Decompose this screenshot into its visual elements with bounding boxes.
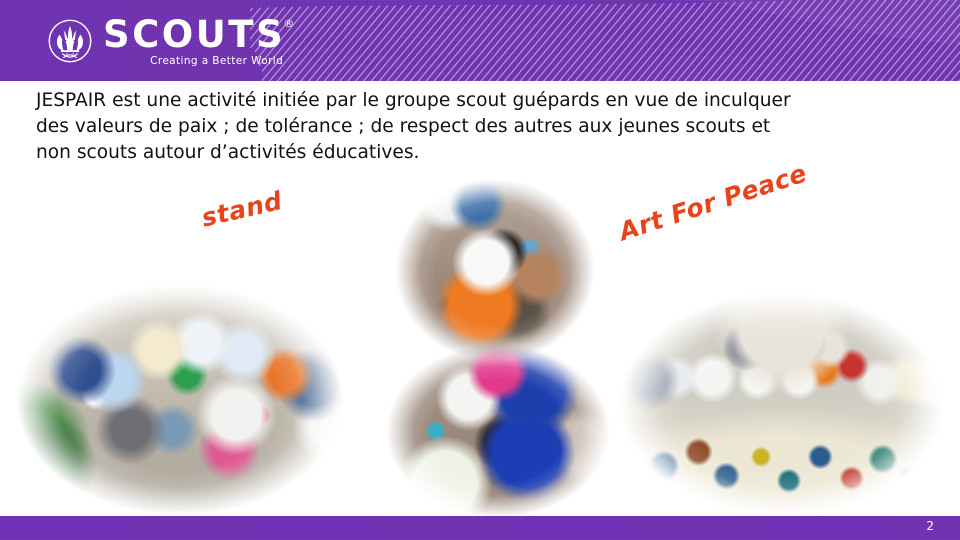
purple-texture <box>0 516 960 540</box>
paragraph-line-2: des valeurs de paix ; de tolérance ; de … <box>36 114 924 140</box>
photo-group-with-drawings <box>4 276 356 524</box>
label-stand: stand <box>199 186 285 233</box>
slide-canvas: SCOUTS® Creating a Better World JESPAIR … <box>0 0 960 540</box>
page-number: 2 <box>926 519 934 533</box>
photo-boy-drawing <box>378 338 618 524</box>
header-band: SCOUTS® Creating a Better World <box>0 0 960 81</box>
scouts-logo: SCOUTS® Creating a Better World <box>47 17 285 65</box>
photo-image <box>4 276 356 524</box>
paragraph-line-1: JESPAIR est une activité initiée par le … <box>36 88 924 114</box>
photo-image <box>608 284 956 524</box>
scouts-wordmark-label: SCOUTS <box>103 13 285 56</box>
scout-fleur-de-lis-icon <box>47 18 93 64</box>
description-paragraph: JESPAIR est une activité initiée par le … <box>36 88 924 166</box>
photo-image <box>378 338 618 524</box>
scouts-tagline: Creating a Better World <box>103 55 285 67</box>
scouts-wordmark-text: SCOUTS® <box>103 16 285 53</box>
label-art-for-peace: Art For Peace <box>616 158 811 246</box>
scouts-wordmark: SCOUTS® Creating a Better World <box>103 16 285 67</box>
photo-handprint-banner <box>608 284 956 524</box>
footer-band <box>0 516 960 540</box>
trademark-icon: ® <box>283 18 294 29</box>
